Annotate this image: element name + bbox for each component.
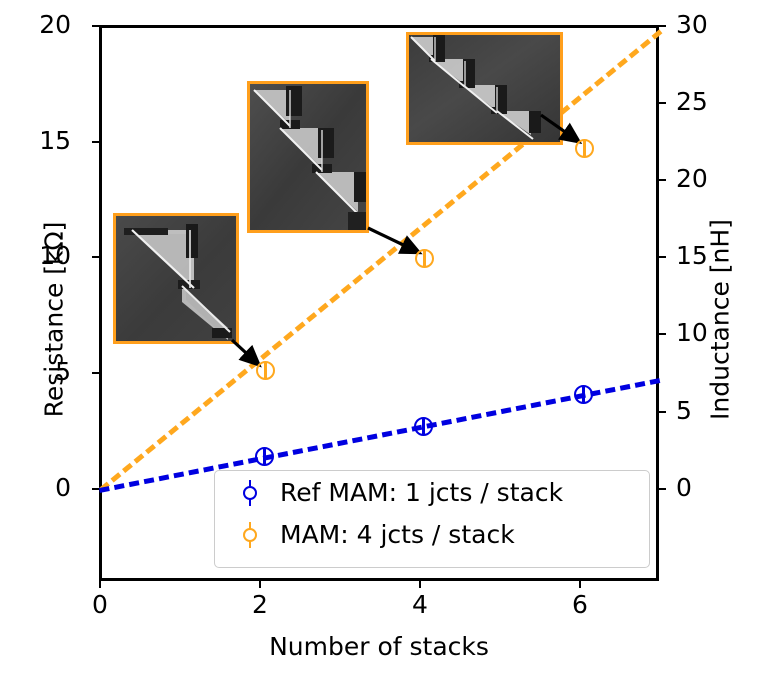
ytick-label-right-20: 20: [676, 164, 708, 193]
ytick-label-right-15: 15: [676, 241, 708, 270]
axis-spine-bottom: [99, 578, 659, 581]
sem-inset-4-junctions[interactable]: [406, 32, 563, 145]
ytick-mark-left-20: [92, 25, 99, 27]
ytick-mark-left-15: [92, 141, 99, 143]
y-axis-title-right: Inductance [nH]: [706, 170, 735, 470]
sem-inset-1-junction[interactable]: [113, 213, 239, 344]
y-axis-title-left: Resistance [kΩ]: [40, 170, 69, 470]
ytick-mark-right-20: [659, 179, 666, 181]
sem-inset-2-junctions[interactable]: [247, 81, 369, 233]
ytick-label-right-10: 10: [676, 318, 708, 347]
xtick-mark-0: [99, 581, 101, 588]
xtick-label-0: 0: [70, 590, 130, 619]
legend-marker-ref-mam: [234, 480, 270, 506]
ytick-mark-right-30: [659, 25, 666, 27]
xtick-label-2: 2: [230, 590, 290, 619]
legend-marker-mam: [234, 522, 270, 548]
axis-spine-right: [656, 25, 659, 581]
ytick-mark-right-15: [659, 256, 666, 258]
ytick-mark-left-0: [92, 488, 99, 490]
xtick-label-4: 4: [390, 590, 450, 619]
datapoint-ref-mam-x6[interactable]: [574, 385, 593, 404]
legend-entry-ref-mam[interactable]: Ref MAM: 1 jcts / stack: [234, 478, 563, 507]
xtick-label-6: 6: [550, 590, 610, 619]
ytick-mark-left-5: [92, 372, 99, 374]
datapoint-ref-mam-x2[interactable]: [255, 447, 274, 466]
ytick-mark-right-25: [659, 102, 666, 104]
ytick-mark-left-10: [92, 256, 99, 258]
x-axis-title: Number of stacks: [99, 632, 659, 661]
sem-image-1-junction-graphic: [116, 216, 236, 341]
xtick-mark-2: [259, 581, 261, 588]
xtick-mark-4: [419, 581, 421, 588]
axis-spine-left: [99, 25, 102, 581]
legend-label-mam: MAM: 4 jcts / stack: [280, 520, 515, 549]
datapoint-mam-x6[interactable]: [575, 139, 594, 158]
ytick-label-left-20: 20: [39, 10, 71, 39]
axis-spine-top: [99, 25, 659, 28]
sem-image-2-junctions-graphic: [250, 84, 366, 230]
datapoint-mam-x4[interactable]: [415, 249, 434, 268]
sem-image-4-junctions-graphic: [409, 35, 560, 142]
ytick-label-right-25: 25: [676, 87, 708, 116]
ytick-mark-right-10: [659, 333, 666, 335]
datapoint-mam-x2[interactable]: [256, 361, 275, 380]
ytick-label-left-15: 15: [39, 126, 71, 155]
ytick-mark-right-5: [659, 411, 666, 413]
datapoint-ref-mam-x4[interactable]: [414, 417, 433, 436]
ytick-label-left-0: 0: [55, 473, 71, 502]
xtick-mark-6: [579, 581, 581, 588]
ytick-label-right-5: 5: [676, 396, 692, 425]
figure-canvas: 20 15 10 5 0 30 25 20 15 10 5 0 0 2 4 6 …: [0, 0, 764, 678]
legend-entry-mam[interactable]: MAM: 4 jcts / stack: [234, 520, 515, 549]
ytick-label-right-0: 0: [676, 473, 692, 502]
ytick-mark-right-0: [659, 488, 666, 490]
ytick-label-right-30: 30: [676, 10, 708, 39]
legend-label-ref-mam: Ref MAM: 1 jcts / stack: [280, 478, 563, 507]
